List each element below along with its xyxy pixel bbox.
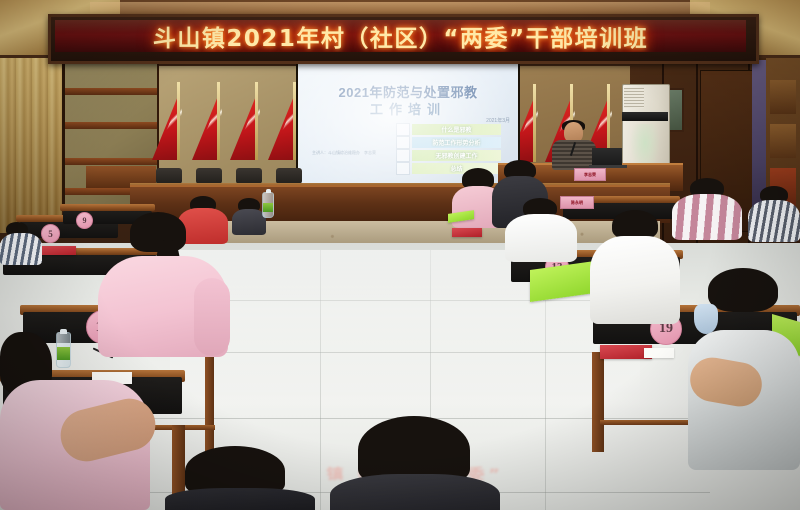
attendee-striped-left: [0, 222, 42, 264]
air-conditioner-display-band: [622, 112, 668, 121]
curtain-shading: [0, 58, 62, 233]
water-bottle: [262, 192, 274, 218]
led-banner-housing: 斗山镇2021年村（社区）“两委”干部培训班: [48, 14, 759, 64]
red-flag: [152, 82, 182, 160]
stage-chair: [156, 168, 182, 184]
seat-number-badge: 9: [76, 212, 93, 229]
attendee-pink-left: [0, 332, 150, 510]
stage-chair: [236, 168, 262, 184]
attendee-striped-right: [672, 178, 742, 238]
red-booklet: [38, 246, 76, 255]
nameplate-speaker: 李志荣: [574, 168, 606, 181]
attendee-stripe-far-right: [748, 186, 800, 240]
attendee-dark-foreground: [330, 416, 500, 510]
speaker-presenter: [552, 122, 596, 168]
seat-number-badge: 5: [41, 224, 60, 243]
attendee-dark-far: [232, 198, 266, 234]
meeting-room-photo: 2021年防范与处置邪教 工作培训 2021年3月 什么是邪教 防范工作形势分析…: [0, 0, 800, 510]
paper-sheet: [644, 348, 674, 358]
red-flag: [268, 82, 298, 160]
attendee-foreground-left: [165, 446, 315, 510]
air-conditioner-vent: [624, 88, 644, 108]
attendee-masked-gray: [688, 268, 800, 468]
attendee-white-mid: [590, 210, 680, 322]
stage-chair: [276, 168, 302, 184]
red-flag: [192, 82, 222, 160]
laptop-screen: [592, 148, 622, 166]
led-banner-sheen: [55, 20, 746, 33]
attendee-white-front: [505, 198, 577, 260]
red-flag: [230, 82, 260, 160]
red-booklet: [452, 228, 482, 237]
stage-chair: [196, 168, 222, 184]
